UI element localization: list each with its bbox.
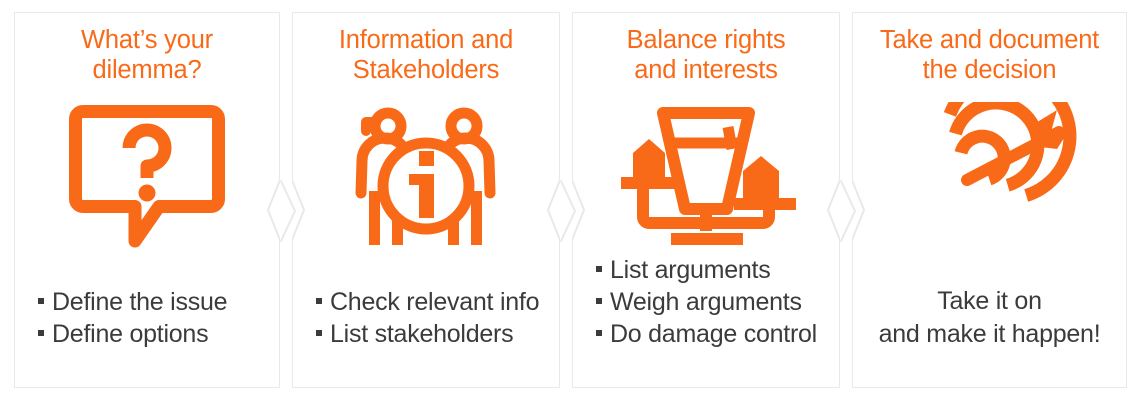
list-item: Define the issue	[38, 286, 227, 318]
list-item: Do damage control	[596, 318, 817, 350]
step-title-3: Balance rights and interests	[582, 26, 830, 86]
decision-process-infographic: What’s your dilemma? Define the issue	[0, 0, 1137, 405]
square-bullet-icon	[596, 298, 602, 304]
square-bullet-icon	[316, 298, 322, 304]
list-item-label: Check relevant info	[330, 286, 539, 318]
step-content-4: Take and document the decision	[852, 12, 1127, 388]
square-bullet-icon	[316, 330, 322, 336]
balance-scale-icon	[615, 102, 797, 252]
list-item: List stakeholders	[316, 318, 513, 350]
list-item-label: Weigh arguments	[610, 286, 802, 318]
step-card-2[interactable]: Information and Stakeholders	[292, 12, 560, 388]
step-card-4[interactable]: Take and document the decision	[852, 12, 1127, 388]
chevron-right-connector-1	[280, 180, 298, 242]
step-items-4: Take it on and make it happen!	[862, 285, 1117, 350]
chevron-right-connector-3	[840, 180, 858, 242]
steps-row: What’s your dilemma? Define the issue	[0, 0, 1137, 405]
square-bullet-icon	[596, 330, 602, 336]
step-items-3: List arguments Weigh arguments Do damage…	[582, 254, 830, 350]
outcome-line: and make it happen!	[879, 318, 1101, 351]
list-item: Define options	[38, 318, 208, 350]
step-content-3: Balance rights and interests	[572, 12, 840, 388]
step-title-1: What’s your dilemma?	[24, 26, 270, 86]
list-item-label: Define the issue	[52, 286, 227, 318]
step-title-2: Information and Stakeholders	[302, 26, 550, 86]
people-information-icon	[347, 102, 505, 252]
list-item: List arguments	[596, 254, 770, 286]
speech-bubble-question-icon	[69, 102, 225, 252]
step-items-1: Define the issue Define options	[24, 286, 270, 350]
list-item-label: Do damage control	[610, 318, 817, 350]
chevron-right-connector-2	[560, 180, 578, 242]
list-item-label: Define options	[52, 318, 208, 350]
step-title-4: Take and document the decision	[862, 26, 1117, 86]
step-content-2: Information and Stakeholders	[292, 12, 560, 388]
step-card-1[interactable]: What’s your dilemma? Define the issue	[14, 12, 280, 388]
list-item: Check relevant info	[316, 286, 539, 318]
step-content-1: What’s your dilemma? Define the issue	[14, 12, 280, 388]
step-items-2: Check relevant info List stakeholders	[302, 286, 550, 350]
square-bullet-icon	[38, 298, 44, 304]
outcome-line: Take it on	[937, 285, 1042, 318]
list-item: Weigh arguments	[596, 286, 802, 318]
step-card-3[interactable]: Balance rights and interests	[572, 12, 840, 388]
square-bullet-icon	[38, 330, 44, 336]
square-bullet-icon	[596, 266, 602, 272]
list-item-label: List arguments	[610, 254, 770, 286]
target-arrow-icon	[901, 102, 1079, 252]
list-item-label: List stakeholders	[330, 318, 513, 350]
